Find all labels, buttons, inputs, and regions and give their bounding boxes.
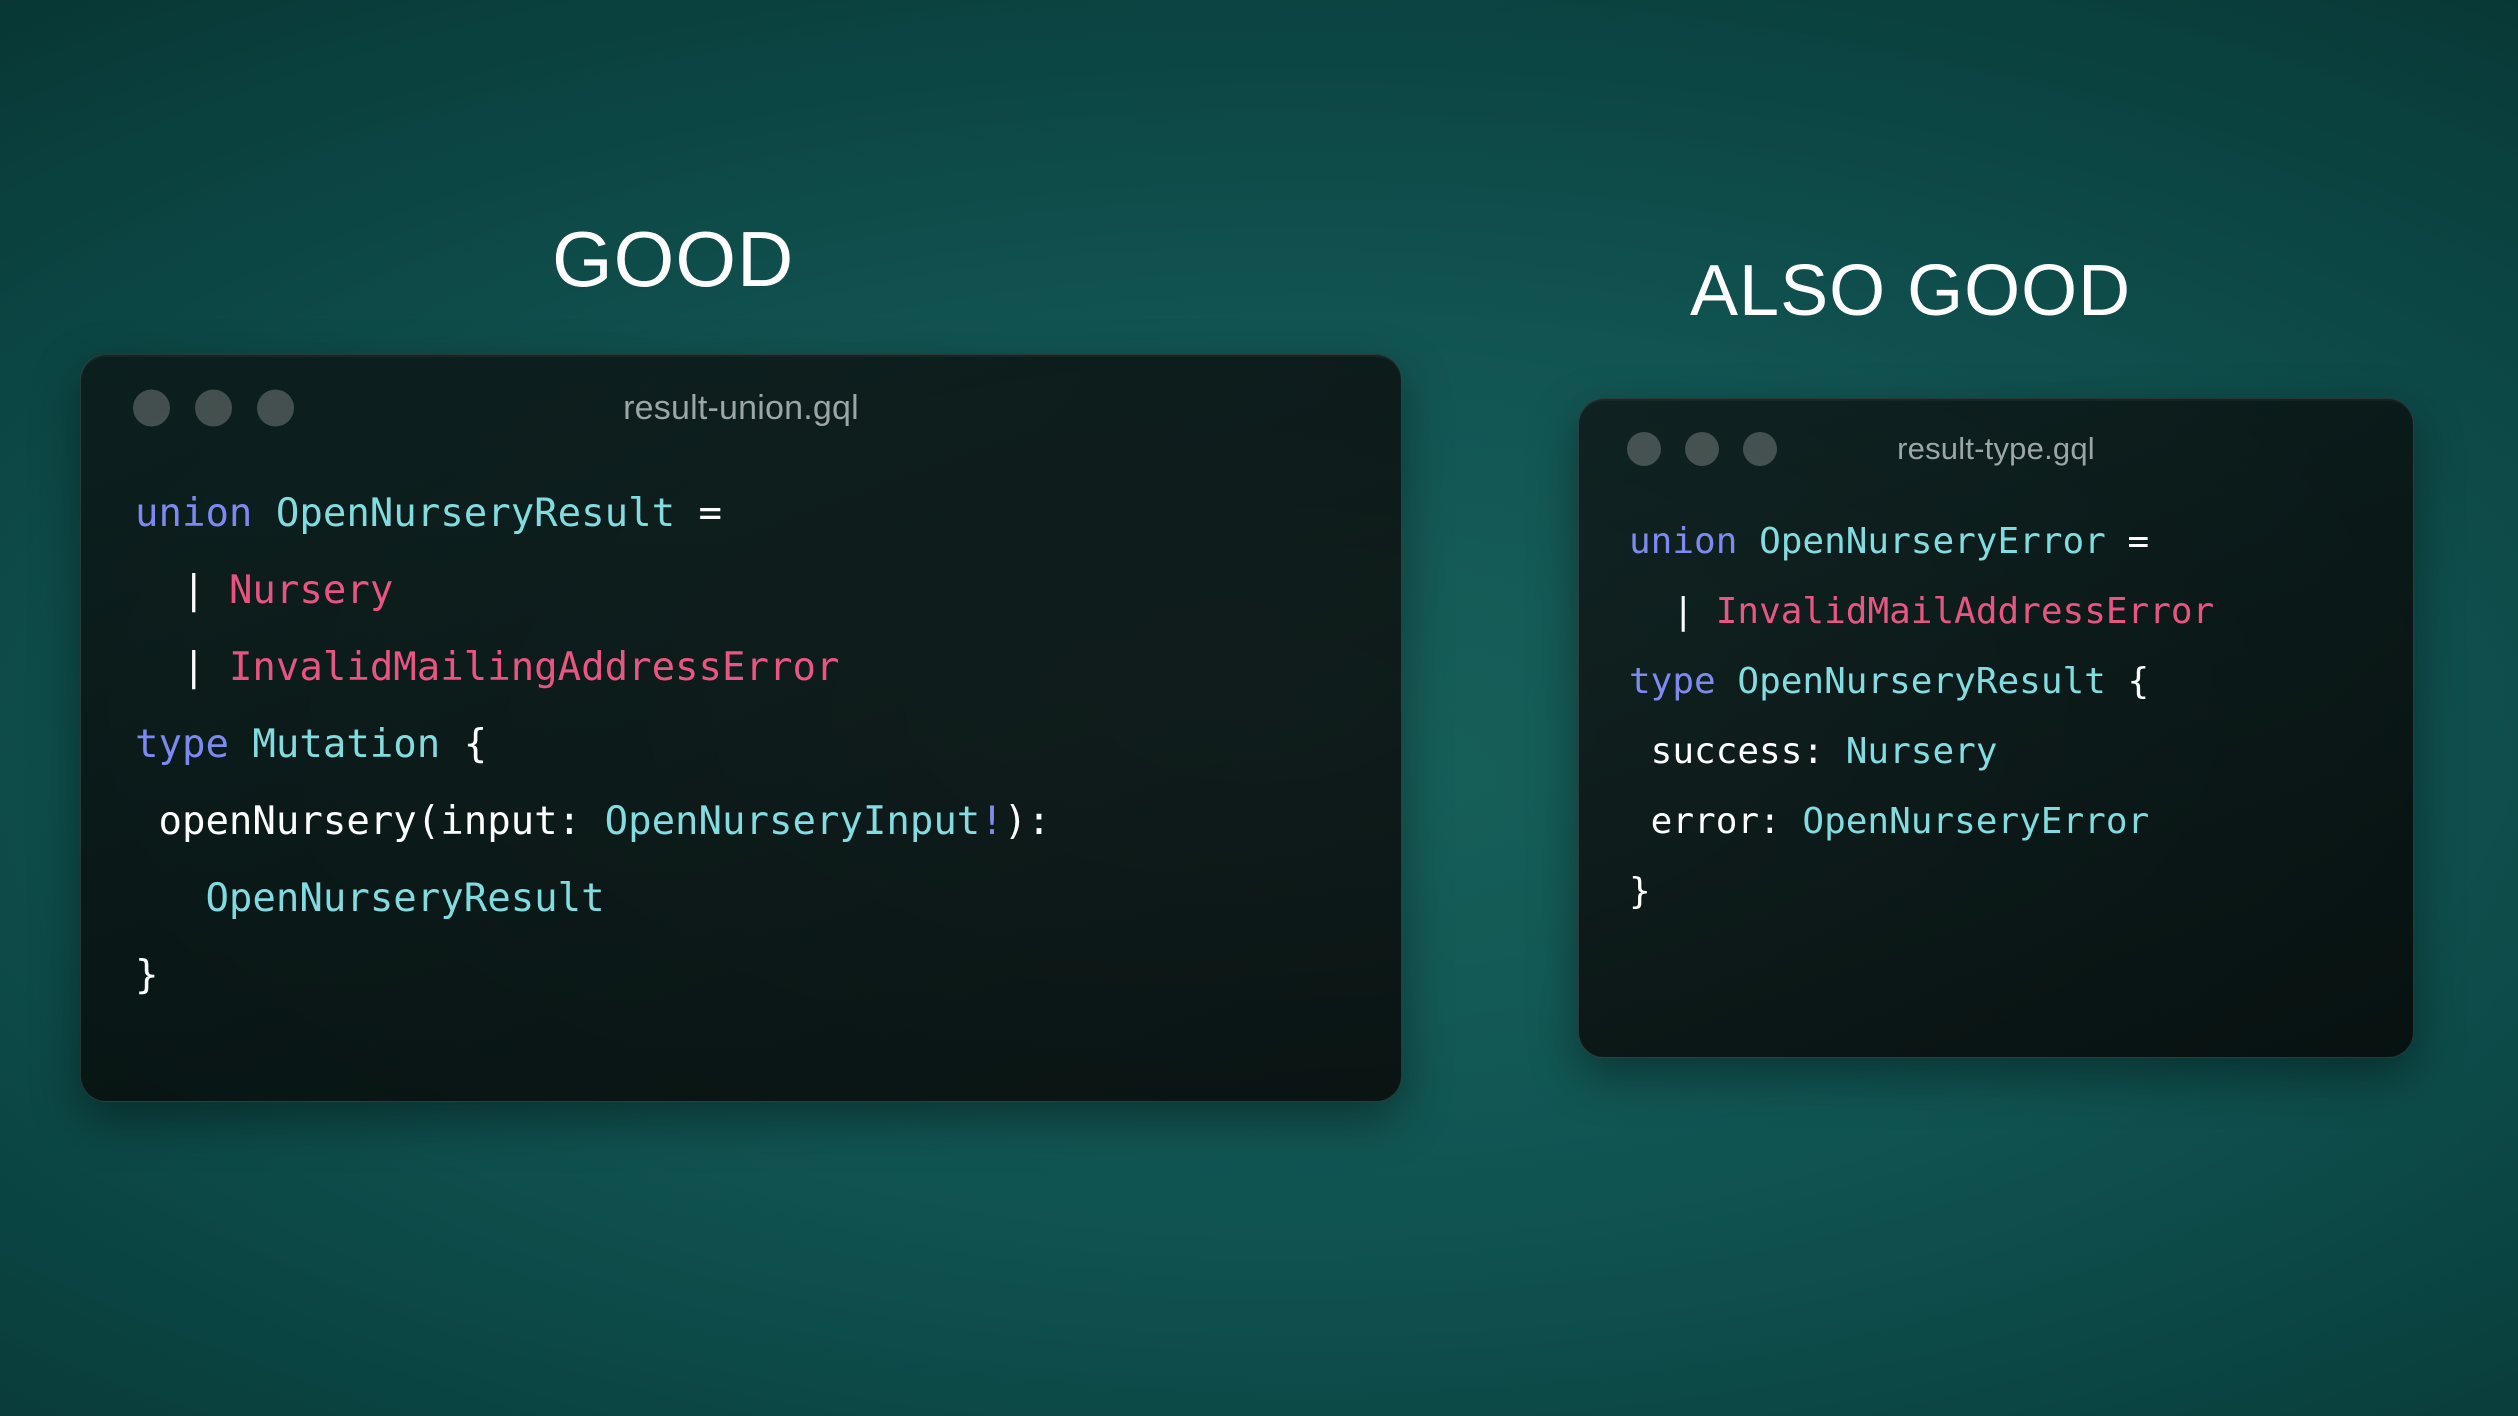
code-line: type OpenNurseryResult { <box>1629 647 2413 717</box>
code-token: InvalidMailingAddressError <box>229 645 839 690</box>
code-line: | InvalidMailAddressError <box>1629 577 2413 647</box>
code-token: OpenNurseryError <box>1759 521 2106 562</box>
code-token <box>1629 591 1672 632</box>
code-token <box>135 876 205 921</box>
code-token: error: <box>1629 801 1802 842</box>
code-token: { <box>2106 661 2149 702</box>
code-token: InvalidMailAddressError <box>1716 591 2215 632</box>
code-line: union OpenNurseryError = <box>1629 507 2413 577</box>
maximize-icon[interactable] <box>257 390 294 427</box>
code-token: Mutation <box>252 722 440 767</box>
code-token: OpenNurseryInput <box>605 799 981 844</box>
code-token: type <box>1629 661 1716 702</box>
code-block-good: union OpenNurseryResult = | Nursery | In… <box>81 461 1401 1014</box>
code-token <box>205 568 228 613</box>
code-token <box>135 568 182 613</box>
code-token: | <box>1672 591 1694 632</box>
code-window-also-good: result-type.gql union OpenNurseryError =… <box>1578 398 2414 1058</box>
code-window-good: result-union.gql union OpenNurseryResult… <box>80 354 1402 1102</box>
code-token: type <box>135 722 229 767</box>
code-token <box>1737 521 1759 562</box>
code-token: { <box>440 722 487 767</box>
code-token: = <box>675 491 722 536</box>
code-line: } <box>1629 857 2413 927</box>
code-token: OpenNurseryError <box>1802 801 2149 842</box>
code-line: type Mutation { <box>135 706 1401 783</box>
code-token: Nursery <box>229 568 393 613</box>
heading-also-good: ALSO GOOD <box>1690 255 2131 327</box>
code-token <box>1694 591 1716 632</box>
code-token: } <box>135 953 158 998</box>
code-token <box>135 645 182 690</box>
window-controls <box>1627 432 1777 466</box>
code-token <box>229 722 252 767</box>
code-token: OpenNurseryResult <box>1737 661 2105 702</box>
code-token: | <box>182 568 205 613</box>
maximize-icon[interactable] <box>1743 432 1777 466</box>
code-token: = <box>2106 521 2149 562</box>
code-token: success: <box>1629 731 1846 772</box>
code-line: | Nursery <box>135 552 1401 629</box>
window-titlebar: result-type.gql <box>1579 399 2413 499</box>
code-line: } <box>135 937 1401 1014</box>
code-token: openNursery(input: <box>135 799 605 844</box>
close-icon[interactable] <box>1627 432 1661 466</box>
code-line: OpenNurseryResult <box>135 860 1401 937</box>
code-line: | InvalidMailingAddressError <box>135 629 1401 706</box>
code-token <box>205 645 228 690</box>
slide-background: GOOD ALSO GOOD result-union.gql union Op… <box>0 0 2518 1416</box>
code-line: union OpenNurseryResult = <box>135 475 1401 552</box>
code-token <box>252 491 275 536</box>
code-token: | <box>182 645 205 690</box>
code-token: union <box>1629 521 1737 562</box>
code-token <box>1716 661 1738 702</box>
code-token: } <box>1629 871 1651 912</box>
code-line: success: Nursery <box>1629 717 2413 787</box>
code-token: Nursery <box>1846 731 1998 772</box>
code-token: ! <box>980 799 1003 844</box>
code-token: union <box>135 491 252 536</box>
code-line: openNursery(input: OpenNurseryInput!): <box>135 783 1401 860</box>
code-token: OpenNurseryResult <box>205 876 604 921</box>
code-token: OpenNurseryResult <box>276 491 675 536</box>
window-titlebar: result-union.gql <box>81 355 1401 461</box>
minimize-icon[interactable] <box>1685 432 1719 466</box>
heading-good: GOOD <box>552 220 794 298</box>
code-token: ): <box>1004 799 1051 844</box>
close-icon[interactable] <box>133 390 170 427</box>
code-line: error: OpenNurseryError <box>1629 787 2413 857</box>
window-controls <box>133 390 294 427</box>
code-block-also-good: union OpenNurseryError = | InvalidMailAd… <box>1579 499 2413 927</box>
minimize-icon[interactable] <box>195 390 232 427</box>
